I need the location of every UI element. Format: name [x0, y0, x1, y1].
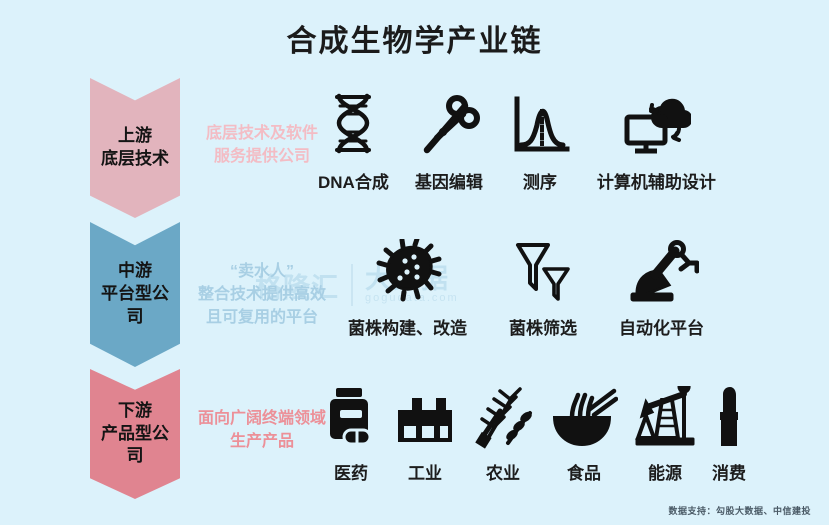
item-dna-synthesis[interactable]: DNA合成: [318, 90, 389, 193]
stage-description-downstream: 面向广阔终端领域 生产产品: [182, 407, 342, 453]
item-label: 农业: [486, 459, 520, 484]
stage-description-midstream: “卖水人” 整合技术提供高效 且可复用的平台: [182, 260, 342, 330]
item-pharmaceutical[interactable]: 医药: [322, 381, 380, 484]
item-agriculture[interactable]: 农业: [470, 381, 536, 484]
item-energy[interactable]: 能源: [632, 381, 698, 484]
footer-credit: 数据支持：勾股大数据、中信建投: [668, 504, 811, 517]
chevron-line-2: 平台型公司: [97, 283, 173, 329]
stage-chevron-label-midstream: 中游 平台型公司: [97, 260, 173, 329]
item-label: 医药: [334, 459, 368, 484]
stage-row-upstream: 上游 底层技术 底层技术及软件 服务提供公司: [0, 78, 829, 218]
monitor-cloud-icon: [621, 90, 691, 162]
stage-row-downstream: 下游 产品型公司 面向广阔终端领域 生产产品 医药: [0, 369, 829, 499]
stage-desc-line-1: 面向广阔终端领域: [182, 407, 342, 430]
stage-row-midstream: 中游 平台型公司 “卖水人” 整合技术提供高效 且可复用的平台: [0, 222, 829, 367]
item-label: 菌株筛选: [509, 314, 577, 339]
item-food[interactable]: 食品: [550, 381, 618, 484]
item-consumer[interactable]: 消费: [712, 381, 746, 484]
chevron-line-2: 底层技术: [97, 148, 173, 171]
sequencing-peak-chart-icon: [509, 90, 571, 162]
item-label: 食品: [567, 459, 601, 484]
item-industry[interactable]: 工业: [394, 381, 456, 484]
oil-pump-icon: [632, 381, 698, 453]
item-label: 菌株构建、改造: [348, 314, 467, 339]
lipstick-icon: [712, 381, 746, 453]
item-strain-screening[interactable]: 菌株筛选: [509, 236, 577, 339]
stage-chevron-label-upstream: 上游 底层技术: [97, 125, 173, 171]
chevron-line-1: 上游: [97, 125, 173, 148]
funnel-icon: [510, 236, 576, 308]
item-label: 消费: [712, 459, 746, 484]
wheat-crop-icon: [470, 381, 536, 453]
stage-desc-line-2: 生产产品: [182, 430, 342, 453]
stage-chevron-upstream: 上游 底层技术: [90, 78, 180, 218]
stage-chevron-midstream: 中游 平台型公司: [90, 222, 180, 367]
stage-desc-line-3: 且可复用的平台: [182, 306, 342, 329]
stage-items-midstream: 菌株构建、改造 菌株筛选: [348, 236, 704, 339]
chevron-line-1: 下游: [97, 400, 173, 423]
robot-arm-icon: [625, 236, 699, 308]
stage-items-upstream: DNA合成 基因编辑: [318, 90, 716, 193]
item-label: 测序: [523, 168, 557, 193]
item-label: DNA合成: [318, 168, 389, 193]
item-label: 能源: [648, 459, 682, 484]
bacteria-icon: [373, 236, 443, 308]
item-label: 工业: [408, 459, 442, 484]
scissors-icon: [417, 90, 481, 162]
stage-desc-line-1: “卖水人”: [182, 260, 342, 283]
factory-icon: [394, 381, 456, 453]
item-gene-editing[interactable]: 基因编辑: [415, 90, 483, 193]
item-label: 基因编辑: [415, 168, 483, 193]
pill-bottle-icon: [322, 381, 380, 453]
item-automation-platform[interactable]: 自动化平台: [619, 236, 704, 339]
item-label: 自动化平台: [619, 314, 704, 339]
noodle-bowl-icon: [550, 381, 618, 453]
item-label: 计算机辅助设计: [597, 168, 716, 193]
page-title: 合成生物学产业链: [0, 16, 829, 60]
stage-chevron-downstream: 下游 产品型公司: [90, 369, 180, 499]
chevron-line-2: 产品型公司: [97, 423, 173, 469]
stage-chevron-label-downstream: 下游 产品型公司: [97, 400, 173, 469]
dna-helix-icon: [323, 90, 383, 162]
item-computer-aided-design[interactable]: 计算机辅助设计: [597, 90, 716, 193]
stage-items-downstream: 医药 工业: [322, 381, 746, 484]
item-sequencing[interactable]: 测序: [509, 90, 571, 193]
item-strain-construction[interactable]: 菌株构建、改造: [348, 236, 467, 339]
stage-desc-line-2: 整合技术提供高效: [182, 283, 342, 306]
chevron-line-1: 中游: [97, 260, 173, 283]
